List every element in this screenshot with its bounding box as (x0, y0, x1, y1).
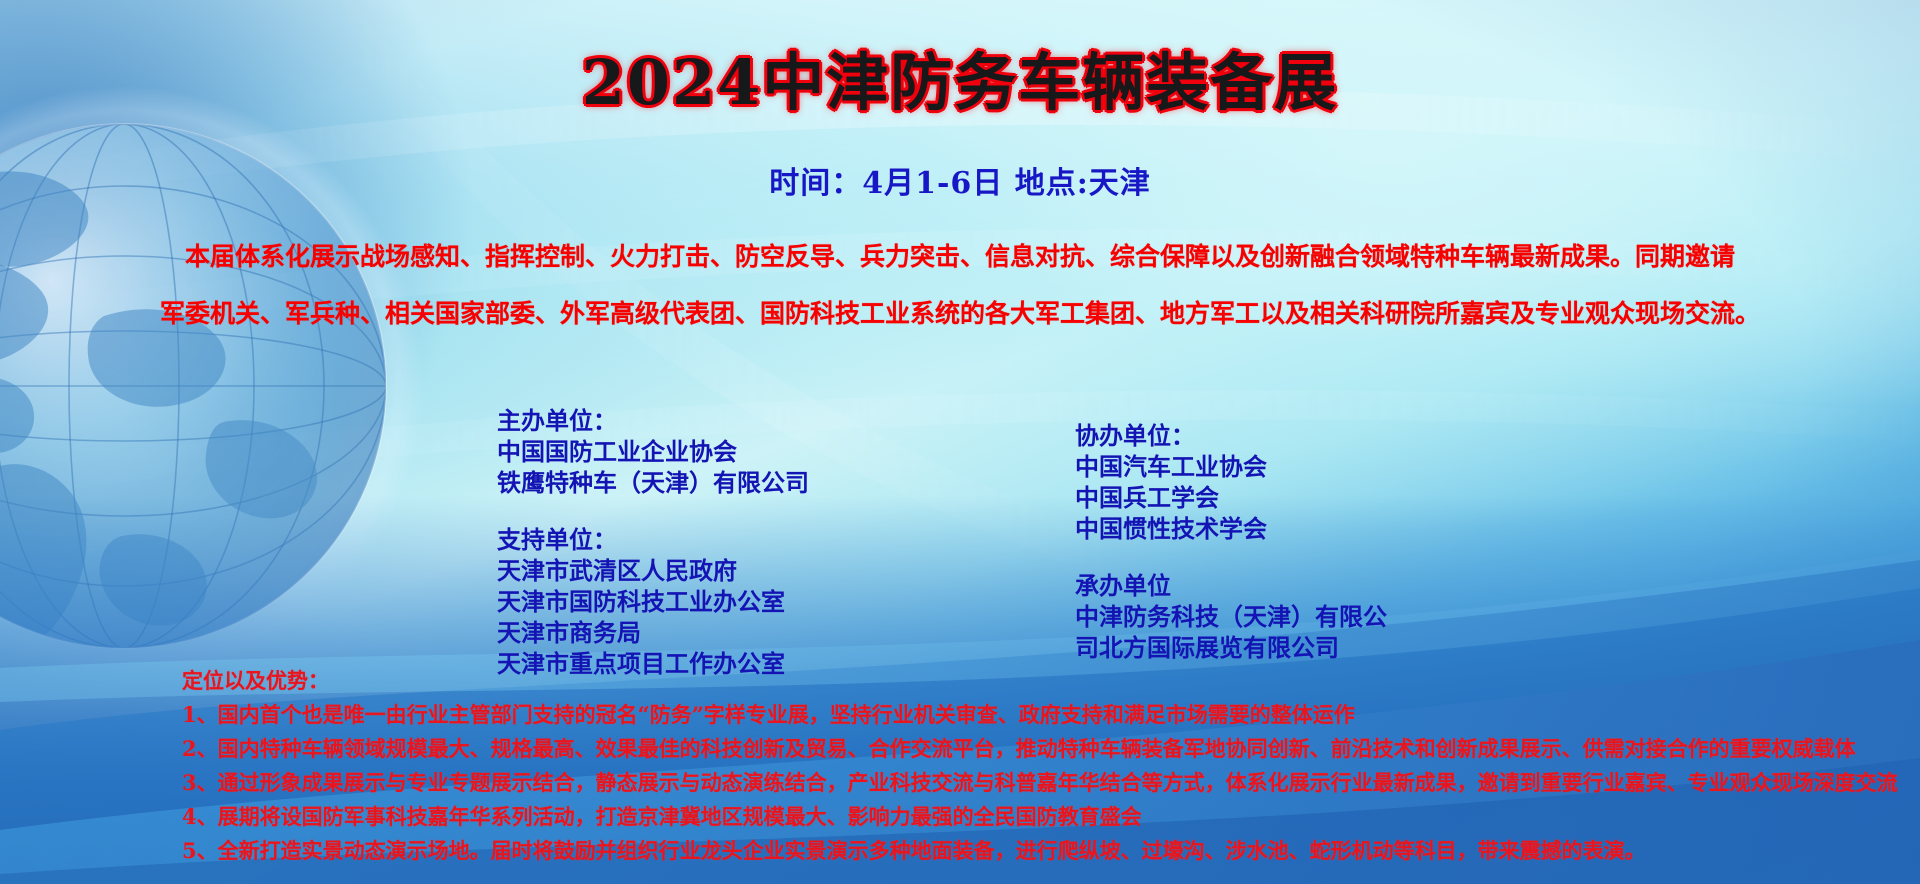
organizer-entry: 天津市国防科技工业办公室 (497, 586, 809, 617)
advantage-item: 1、国内首个也是唯一由行业主管部门支持的冠名“防务”字样专业展，坚持行业机关审查… (182, 698, 1898, 732)
page-title: 2024中津防务车辆装备展 (0, 32, 1920, 122)
intro-paragraph: 本届体系化展示战场感知、指挥控制、火力打击、防空反导、兵力突击、信息对抗、综合保… (60, 228, 1860, 342)
organizer-entry: 中国国防工业企业协会 (497, 436, 809, 467)
organizer-entry: 中国兵工学会 (1075, 482, 1387, 513)
organizer-block-host: 主办单位： 中国国防工业企业协会 铁鹰特种车（天津）有限公司 (497, 405, 809, 498)
poster-canvas: 2024中津防务车辆装备展 时间：4月1-6日 地点:天津 本届体系化展示战场感… (0, 0, 1920, 884)
organizer-block-support: 支持单位： 天津市武清区人民政府 天津市国防科技工业办公室 天津市商务局 天津市… (497, 524, 809, 679)
event-datetime-location: 时间：4月1-6日 地点:天津 (0, 158, 1920, 202)
advantages-section: 定位以及优势： 1、国内首个也是唯一由行业主管部门支持的冠名“防务”字样专业展，… (182, 664, 1898, 868)
organizer-heading: 承办单位 (1075, 570, 1387, 601)
advantage-item: 5、全新打造实景动态演示场地。届时将鼓励并组织行业龙头企业实景演示多种地面装备，… (182, 834, 1898, 868)
advantage-item: 3、通过形象成果展示与专业专题展示结合，静态展示与动态演练结合，产业科技交流与科… (182, 766, 1898, 800)
advantages-heading: 定位以及优势： (182, 664, 1898, 698)
organizer-heading: 支持单位： (497, 524, 809, 555)
organizer-entry: 天津市武清区人民政府 (497, 555, 809, 586)
organizer-entry: 中国汽车工业协会 (1075, 451, 1387, 482)
organizer-entry: 中津防务科技（天津）有限公 (1075, 601, 1387, 632)
organizer-block-coorganizer: 协办单位： 中国汽车工业协会 中国兵工学会 中国惯性技术学会 (1075, 420, 1387, 544)
organizers-left-column: 主办单位： 中国国防工业企业协会 铁鹰特种车（天津）有限公司 支持单位： 天津市… (497, 405, 809, 679)
organizer-heading: 协办单位： (1075, 420, 1387, 451)
organizer-entry: 司北方国际展览有限公司 (1075, 632, 1387, 663)
organizer-entry: 天津市商务局 (497, 617, 809, 648)
organizer-entry: 铁鹰特种车（天津）有限公司 (497, 467, 809, 498)
intro-line: 本届体系化展示战场感知、指挥控制、火力打击、防空反导、兵力突击、信息对抗、综合保… (60, 228, 1860, 285)
organizer-block-undertaker: 承办单位 中津防务科技（天津）有限公 司北方国际展览有限公司 (1075, 570, 1387, 663)
organizer-entry: 中国惯性技术学会 (1075, 513, 1387, 544)
organizers-right-column: 协办单位： 中国汽车工业协会 中国兵工学会 中国惯性技术学会 承办单位 中津防务… (1075, 420, 1387, 663)
intro-line: 军委机关、军兵种、相关国家部委、外军高级代表团、国防科技工业系统的各大军工集团、… (60, 285, 1860, 342)
organizer-heading: 主办单位： (497, 405, 809, 436)
advantage-item: 2、国内特种车辆领域规模最大、规格最高、效果最佳的科技创新及贸易、合作交流平台，… (182, 732, 1898, 766)
advantage-item: 4、展期将设国防军事科技嘉年华系列活动，打造京津冀地区规模最大、影响力最强的全民… (182, 800, 1898, 834)
